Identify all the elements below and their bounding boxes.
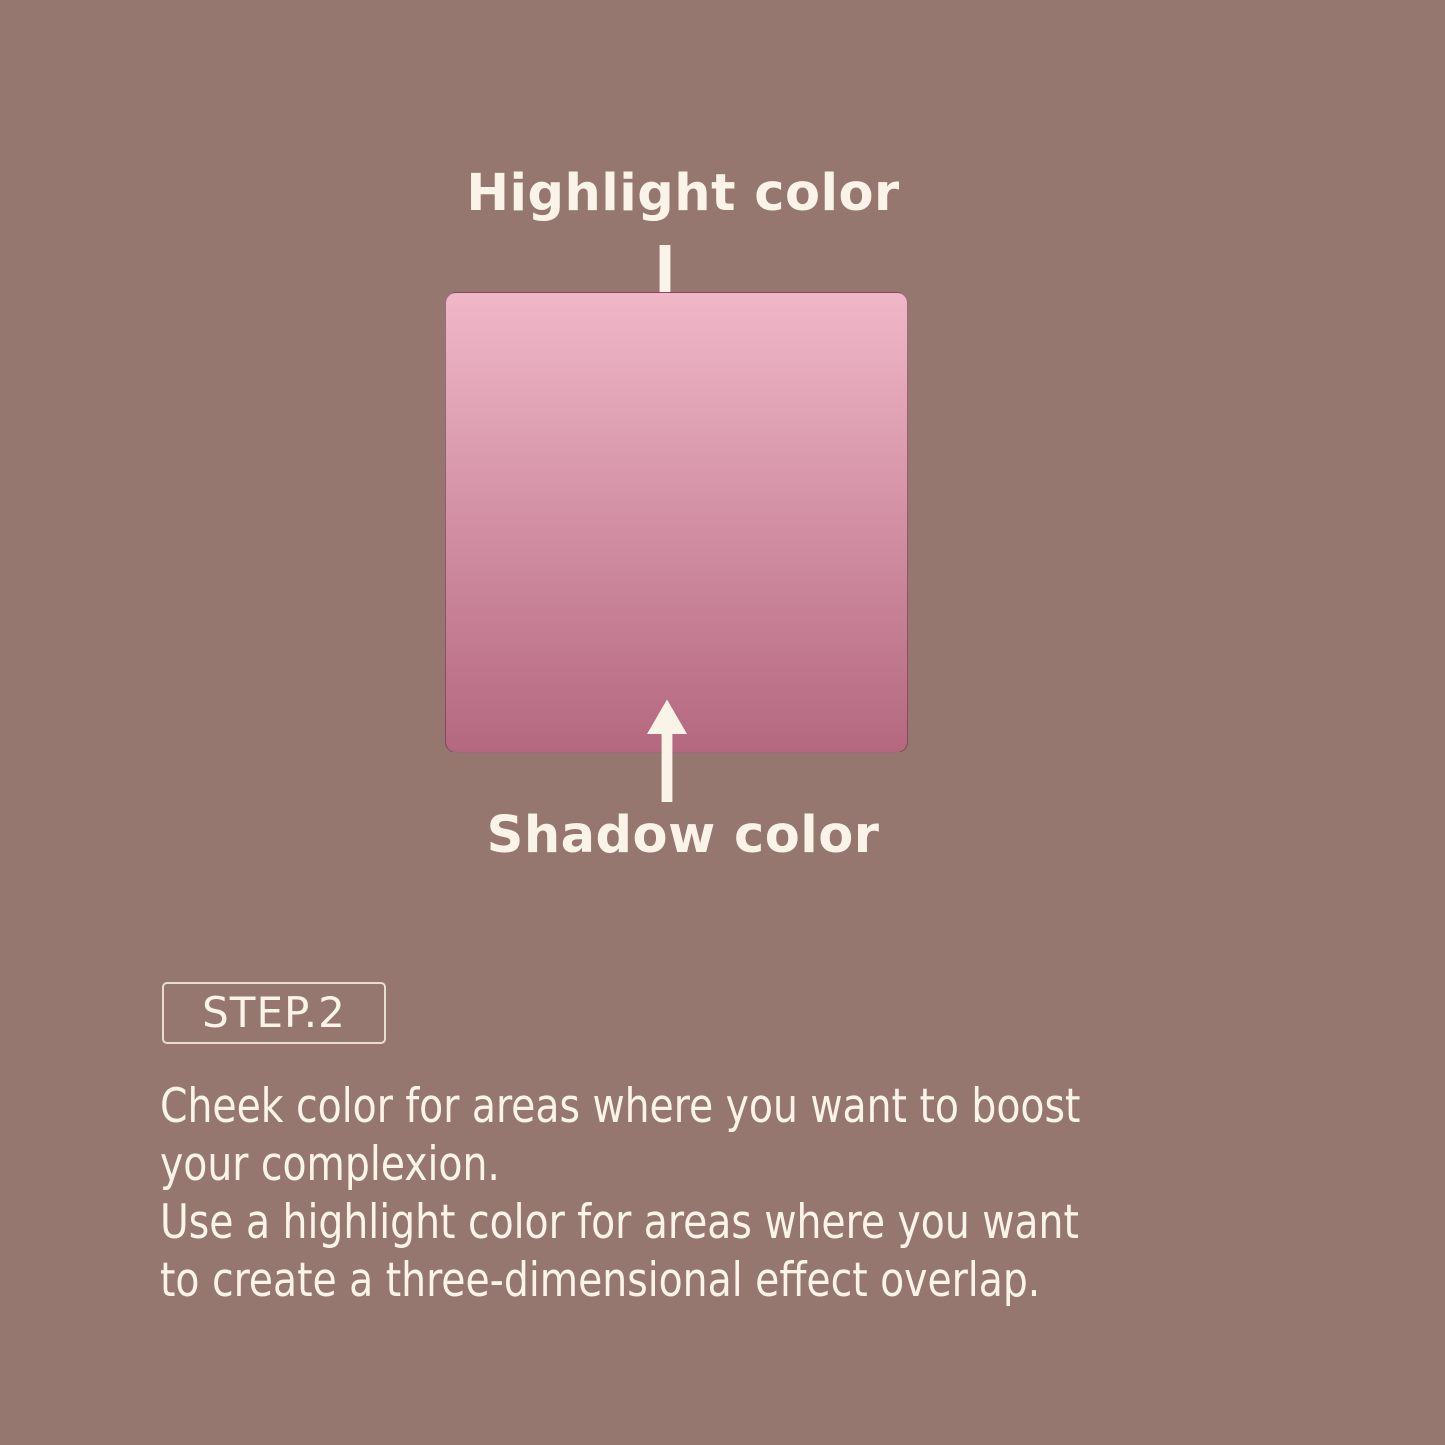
step-description: Cheek color for areas where you want to … [160,1078,1340,1310]
description-line-3: Use a highlight color for areas where yo… [160,1194,1257,1252]
product-instruction-graphic: Highlight color Shadow color STEP.2 Chee… [0,0,1445,1445]
description-line-1: Cheek color for areas where you want to … [160,1078,1257,1136]
shadow-color-label: Shadow color [0,810,1366,861]
step-badge: STEP.2 [162,982,386,1044]
step-badge-label: STEP.2 [202,992,346,1034]
arrow-up-icon [646,698,688,802]
description-line-2: your complexion. [160,1136,1257,1194]
description-line-4: to create a three-dimensional effect ove… [160,1252,1257,1310]
gradient-color-swatch [445,292,908,753]
highlight-color-label: Highlight color [0,168,1366,219]
